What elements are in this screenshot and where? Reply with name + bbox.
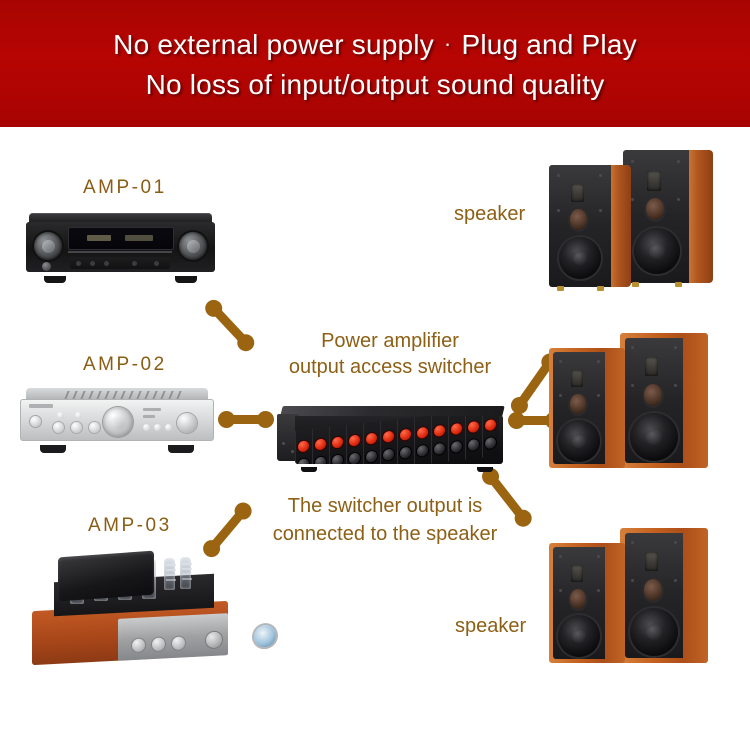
- diagram-canvas: No external power supply·Plug and Play N…: [0, 0, 750, 750]
- amp03-front-panel: [118, 613, 228, 661]
- amp02-foot: [168, 445, 194, 453]
- speaker-woofer: [630, 413, 678, 461]
- speaker-screw: [557, 174, 560, 177]
- amp02-selector-knob[interactable]: [177, 413, 197, 433]
- speaker-screw: [559, 589, 562, 592]
- speaker-screw: [599, 174, 602, 177]
- speaker-screw: [631, 541, 634, 544]
- speaker-tweeter: [645, 357, 658, 376]
- speaker-screw: [597, 555, 600, 558]
- speaker-foot: [632, 282, 639, 287]
- speaker-screw: [597, 589, 600, 592]
- amp03-knob[interactable]: [152, 637, 165, 651]
- speaker-screw: [631, 384, 634, 387]
- amp02-foot: [40, 445, 66, 453]
- amp02-small-button[interactable]: [143, 424, 150, 431]
- label-switcher-line-1: Power amplifier: [280, 330, 500, 353]
- amp02-panel-marking: [143, 415, 155, 418]
- amp02-vents: [66, 391, 186, 399]
- amp02-brand-logo: [29, 404, 53, 408]
- speaker-woofer: [630, 608, 678, 656]
- switcher-front-panel: [295, 416, 503, 464]
- amp02-power-button[interactable]: [30, 416, 41, 427]
- speaker-tweeter: [645, 552, 658, 571]
- speaker-tweeter: [647, 171, 661, 191]
- amp01-display-segment-1: [87, 235, 111, 241]
- speaker-midrange-driver: [644, 579, 662, 601]
- amp03-transformer-cover: [58, 551, 154, 602]
- speaker-foot: [597, 286, 604, 291]
- switcher-screw: [282, 442, 285, 445]
- speaker-woofer: [558, 615, 600, 657]
- banner-separator-dot: ·: [434, 31, 462, 56]
- speaker-screw: [674, 384, 677, 387]
- speaker-screw: [599, 209, 602, 212]
- speaker-foot: [675, 282, 682, 287]
- speaker-bottom-right[interactable]: [620, 528, 708, 663]
- connector-dot-start: [508, 412, 525, 429]
- header-banner: No external power supply·Plug and Play N…: [0, 0, 750, 127]
- banner-line-2: No loss of input/output sound quality: [146, 65, 605, 105]
- banner-line-1-part-b: Plug and Play: [461, 29, 636, 60]
- speaker-top-right[interactable]: [623, 150, 713, 283]
- amp02-small-button[interactable]: [75, 412, 82, 419]
- amp03-output-post[interactable]: [206, 631, 222, 648]
- label-speaker-top: speaker: [454, 203, 525, 226]
- amp01-foot: [44, 276, 66, 283]
- speaker-screw: [557, 209, 560, 212]
- amp01-button[interactable]: [90, 261, 95, 266]
- connector-amp02-to-switcher: [224, 411, 268, 428]
- amp01-button[interactable]: [132, 261, 137, 266]
- label-output-line-1: The switcher output is: [250, 495, 520, 518]
- amp02-small-button[interactable]: [57, 412, 64, 419]
- amp01-power-button[interactable]: [42, 262, 51, 271]
- speaker-tweeter: [571, 184, 584, 202]
- amp02-small-knob[interactable]: [53, 422, 64, 433]
- banner-line-1-part-a: No external power supply: [113, 29, 434, 60]
- amp01-button-row: [70, 257, 170, 269]
- device-amp-02[interactable]: [20, 388, 214, 448]
- speaker-screw: [597, 360, 600, 363]
- switcher-screw: [291, 450, 294, 453]
- speaker-screw: [559, 394, 562, 397]
- connector-amp01-to-switcher: [206, 301, 254, 351]
- speaker-woofer: [559, 237, 601, 279]
- speaker-foot: [557, 286, 564, 291]
- speaker-screw: [559, 555, 562, 558]
- device-amp-03[interactable]: [32, 550, 228, 660]
- label-amp-01: AMP-01: [83, 177, 167, 199]
- amp03-vacuum-tube: [180, 557, 191, 589]
- label-switcher-line-2: output access switcher: [280, 356, 500, 379]
- speaker-cabinet-side: [685, 150, 713, 283]
- amp01-chassis: [26, 222, 215, 272]
- label-amp-03: AMP-03: [88, 515, 172, 537]
- amp02-small-button[interactable]: [165, 424, 172, 431]
- device-speaker-switcher[interactable]: [277, 406, 506, 468]
- amp01-button[interactable]: [76, 261, 81, 266]
- connector-dot-end: [257, 411, 274, 428]
- speaker-tweeter: [571, 565, 583, 582]
- speaker-tweeter: [571, 370, 583, 387]
- speaker-top-left[interactable]: [549, 165, 631, 287]
- speaker-woofer: [558, 420, 600, 462]
- switcher-black-terminal[interactable]: [315, 456, 326, 464]
- amp02-small-knob[interactable]: [89, 422, 100, 433]
- label-output-line-2: connected to the speaker: [250, 523, 520, 546]
- amp01-button[interactable]: [104, 261, 109, 266]
- amp01-right-knob[interactable]: [179, 232, 207, 260]
- speaker-screw: [674, 346, 677, 349]
- speaker-midrange-driver: [570, 209, 587, 230]
- switcher-foot: [301, 467, 317, 472]
- speaker-screw: [559, 360, 562, 363]
- amp03-vacuum-tube: [164, 558, 175, 590]
- speaker-screw: [597, 394, 600, 397]
- speaker-screw: [674, 541, 677, 544]
- amp03-knob[interactable]: [172, 636, 185, 650]
- speaker-screw: [631, 579, 634, 582]
- speaker-woofer: [634, 228, 680, 274]
- amp02-volume-knob[interactable]: [103, 407, 133, 437]
- speaker-midrange-driver: [570, 589, 586, 609]
- amp02-small-knob[interactable]: [71, 422, 82, 433]
- speaker-screw: [674, 579, 677, 582]
- amp01-foot: [175, 276, 197, 283]
- connector-dot-start: [218, 411, 235, 428]
- amp01-display-segment-2: [125, 235, 153, 241]
- speaker-midrange-driver: [646, 198, 664, 220]
- speaker-screw: [631, 198, 634, 201]
- amp01-button[interactable]: [154, 261, 159, 266]
- device-amp-01[interactable]: [26, 213, 215, 278]
- connector-amp03-to-switcher: [203, 504, 251, 556]
- amp02-panel-marking: [143, 408, 161, 411]
- speaker-bottom-left[interactable]: [549, 543, 625, 663]
- speaker-screw: [631, 160, 634, 163]
- speaker-midrange-driver: [570, 394, 586, 414]
- amp01-divider: [68, 251, 172, 253]
- amp01-display: [68, 227, 174, 250]
- speaker-screw: [631, 346, 634, 349]
- switcher-terminal-grid: [295, 416, 503, 464]
- amp03-meter: [254, 625, 276, 648]
- switcher-foot: [477, 467, 493, 472]
- switcher-black-terminal[interactable]: [332, 454, 343, 464]
- amp03-knob[interactable]: [132, 638, 145, 652]
- speaker-midrange-driver: [644, 384, 662, 406]
- speaker-screw: [677, 198, 680, 201]
- switcher-black-terminal[interactable]: [298, 458, 309, 464]
- speaker-screw: [677, 160, 680, 163]
- banner-line-1: No external power supply·Plug and Play: [113, 25, 637, 65]
- label-amp-02: AMP-02: [83, 354, 167, 376]
- amp02-chassis: [20, 399, 214, 441]
- speaker-middle-right[interactable]: [620, 333, 708, 468]
- label-speaker-bottom: speaker: [455, 615, 526, 638]
- amp01-left-knob[interactable]: [34, 232, 62, 260]
- speaker-middle-left[interactable]: [549, 348, 625, 468]
- amp02-small-button[interactable]: [154, 424, 161, 431]
